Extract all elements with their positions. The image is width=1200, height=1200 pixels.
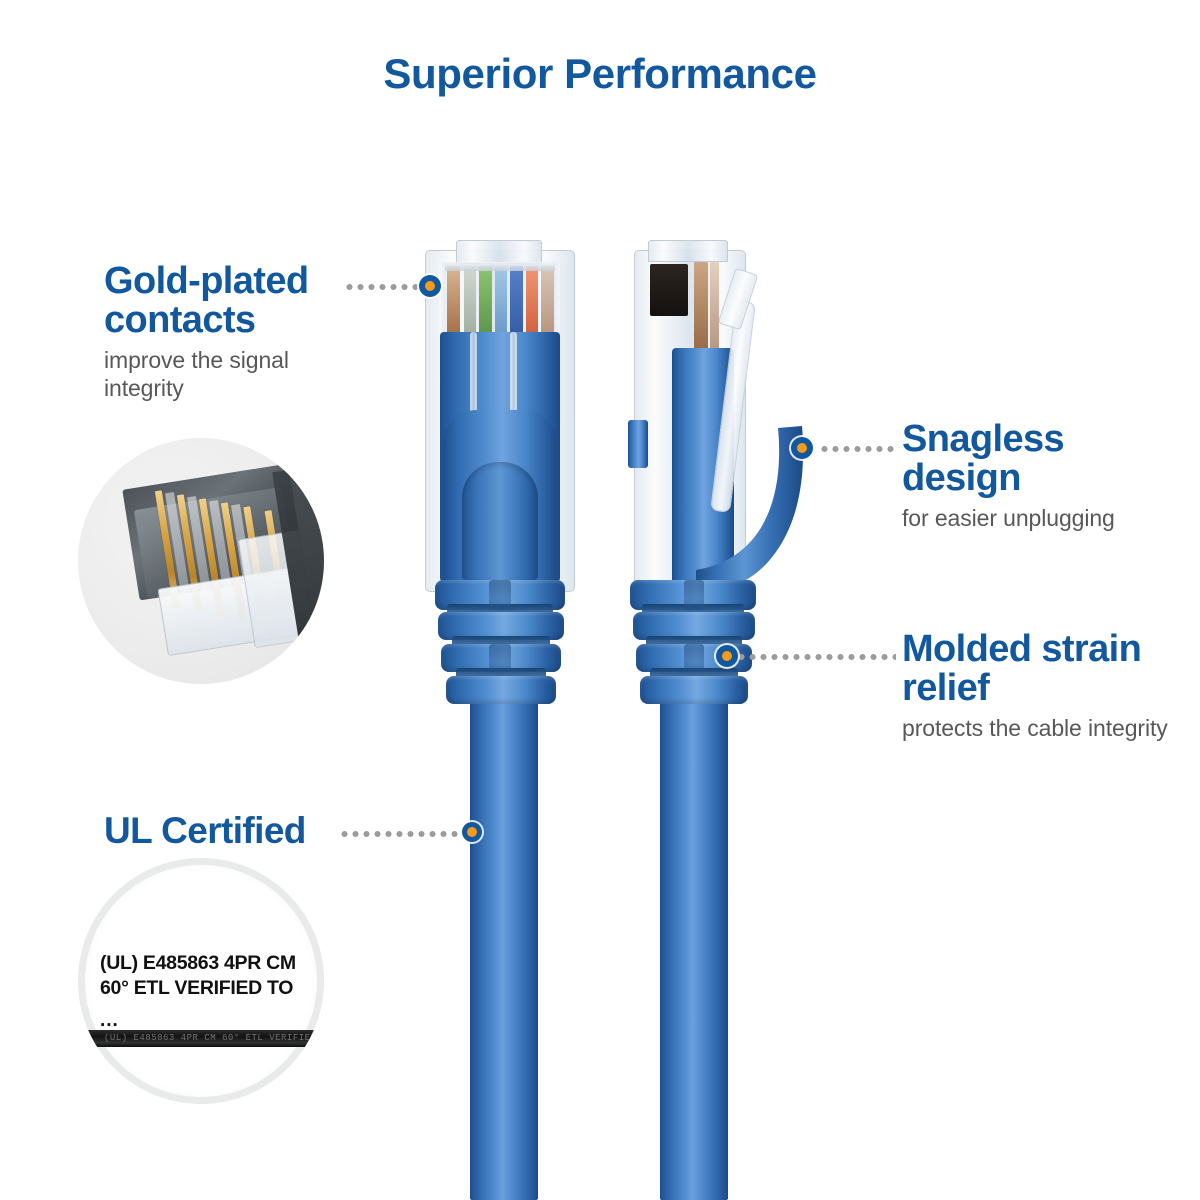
cable-jacket-band: (UL) E485863 4PR CM 60° ETL VERIFIED TO: [78, 1030, 324, 1047]
leader-line-gold-plated-contacts: [344, 284, 418, 290]
infographic-canvas: Superior Performance: [0, 0, 1200, 1200]
callout-gold-plated-contacts: Gold-plated contacts improve the signal …: [104, 262, 354, 403]
ul-label-ellipsis: ...: [100, 1010, 119, 1032]
callout-dot-molded-strain-relief: [716, 645, 738, 667]
cable-body-right: [660, 700, 728, 1200]
leader-line-snagless-design: [819, 446, 895, 452]
callout-subtext: for easier unplugging: [902, 504, 1172, 533]
callout-heading: Molded strain relief: [902, 630, 1182, 708]
callout-ul-certified: UL Certified: [104, 812, 404, 850]
ul-label-line-2: 60° ETL VERIFIED TO: [100, 977, 293, 1000]
ul-label-inset: (UL) E485863 4PR CM 60° ETL VERIFIED TO …: [78, 858, 324, 1104]
callout-dot-ul-certified: [462, 822, 482, 842]
gold-contacts-inset: [78, 438, 324, 684]
callout-snagless-design: Snagless design for easier unplugging: [902, 420, 1172, 532]
callout-heading: UL Certified: [104, 812, 404, 850]
cable-body-left: [470, 700, 538, 1200]
cable-jacket-print: (UL) E485863 4PR CM 60° ETL VERIFIED TO: [78, 1030, 324, 1047]
callout-molded-strain-relief: Molded strain relief protects the cable …: [902, 630, 1182, 742]
snagless-boot-shape: [690, 420, 806, 598]
callout-heading: Gold-plated contacts: [104, 262, 354, 340]
callout-subtext: improve the signal integrity: [104, 346, 354, 404]
callout-dot-snagless-design: [791, 437, 813, 459]
leader-line-molded-strain-relief: [736, 654, 896, 660]
callout-subtext: protects the cable integrity: [902, 714, 1182, 743]
callout-dot-gold-plated-contacts: [419, 275, 441, 297]
ul-label-line-1: (UL) E485863 4PR CM: [100, 952, 296, 975]
callout-heading: Snagless design: [902, 420, 1172, 498]
